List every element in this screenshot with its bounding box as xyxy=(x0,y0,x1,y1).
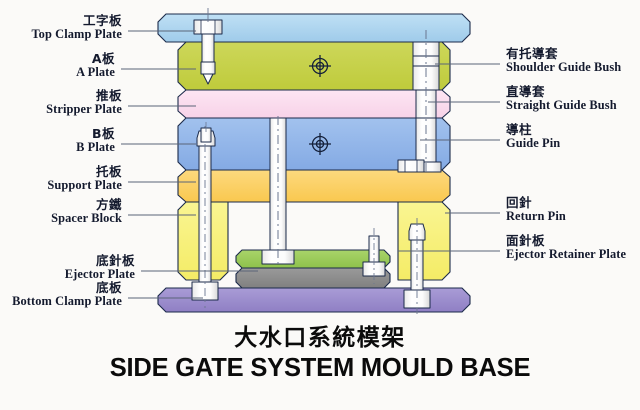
callout-label-cn: 底針板 xyxy=(65,255,135,268)
callout-label-en: B Plate xyxy=(76,141,115,154)
callout-label-cn: 托板 xyxy=(47,166,122,179)
callout-label-cn: B板 xyxy=(76,128,115,141)
callout-label-cn: 直導套 xyxy=(506,86,617,99)
callout-label-cn: 工字板 xyxy=(31,15,122,28)
callout-label-en: Bottom Clamp Plate xyxy=(12,295,122,308)
return-pin-shaft xyxy=(411,240,423,290)
callout-label-cn: 推板 xyxy=(46,90,122,103)
callout-label-en: A Plate xyxy=(76,66,115,79)
callout-support-plate: 托板Support Plate xyxy=(47,166,122,191)
callout-label-cn: 回針 xyxy=(506,197,566,210)
callout-guide-pin: 導柱Guide Pin xyxy=(506,124,560,149)
callout-label-en: Straight Guide Bush xyxy=(506,99,617,112)
callout-straight-guide-bush: 直導套Straight Guide Bush xyxy=(506,86,617,111)
callout-label-cn: A板 xyxy=(76,53,115,66)
callout-return-pin: 回針Return Pin xyxy=(506,197,566,222)
callout-label-en: Top Clamp Plate xyxy=(31,28,122,41)
title-english: SIDE GATE SYSTEM MOULD BASE xyxy=(0,354,640,383)
guide-pin-assembly xyxy=(411,30,441,176)
plate-support xyxy=(178,170,450,202)
cap-screw-head xyxy=(194,20,222,34)
callout-a-plate: A板A Plate xyxy=(76,53,115,78)
callout-label-cn: 底板 xyxy=(12,282,122,295)
callout-label-en: Return Pin xyxy=(506,210,566,223)
callout-b-plate: B板B Plate xyxy=(76,128,115,153)
cap-screw-shank xyxy=(202,34,214,62)
callout-label-cn: 方鐵 xyxy=(51,199,122,212)
plate-stripper xyxy=(178,90,450,118)
cap-screw-support xyxy=(398,160,424,172)
callout-label-en: Spacer Block xyxy=(51,212,122,225)
callout-label-en: Stripper Plate xyxy=(46,103,122,116)
spacer-block-right xyxy=(398,202,450,280)
diagram-title: 大水口系統模架 SIDE GATE SYSTEM MOULD BASE xyxy=(0,318,640,383)
callout-stripper-plate: 推板Stripper Plate xyxy=(46,90,122,115)
callout-label-cn: 導柱 xyxy=(506,124,560,137)
callout-ejector-plate: 底針板Ejector Plate xyxy=(65,255,135,280)
mould-base-diagram: 工字板Top Clamp PlateA板A Plate推板Stripper Pl… xyxy=(0,0,640,410)
callout-label-en: Guide Pin xyxy=(506,137,560,150)
callout-label-cn: 有托導套 xyxy=(506,48,621,61)
callout-ejector-retainer-plate: 面針板Ejector Retainer Plate xyxy=(506,235,626,260)
cap-screw-thread xyxy=(201,62,215,74)
callout-label-en: Support Plate xyxy=(47,179,122,192)
callout-top-clamp-plate: 工字板Top Clamp Plate xyxy=(31,15,122,40)
callout-label-cn: 面針板 xyxy=(506,235,626,248)
callout-label-en: Ejector Retainer Plate xyxy=(506,248,626,261)
callout-label-en: Ejector Plate xyxy=(65,268,135,281)
callout-spacer-block: 方鐵Spacer Block xyxy=(51,199,122,224)
callout-label-en: Shoulder Guide Bush xyxy=(506,61,621,74)
callout-bottom-clamp-plate: 底板Bottom Clamp Plate xyxy=(12,282,122,307)
callout-shoulder-guide-bush: 有托導套Shoulder Guide Bush xyxy=(506,48,621,73)
title-chinese: 大水口系統模架 xyxy=(0,318,640,352)
